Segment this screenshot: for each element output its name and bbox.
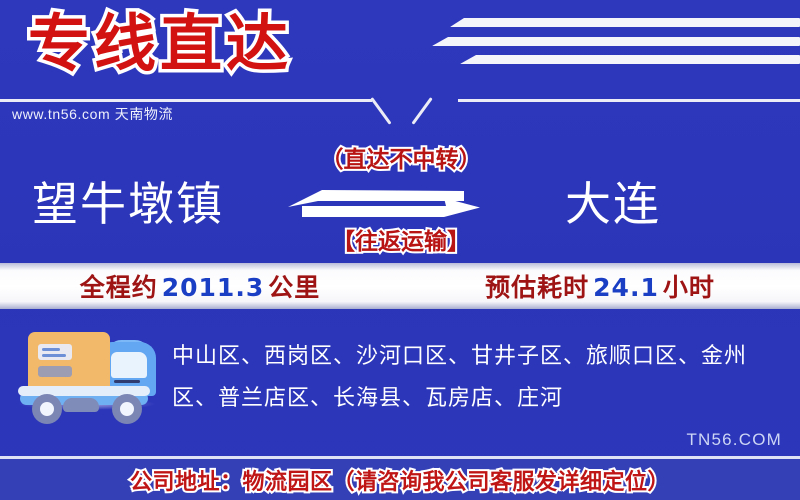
truck-wheel-front xyxy=(112,394,142,424)
speed-lines-decoration xyxy=(420,4,800,74)
distance-stat: 全程约2011.3公里 xyxy=(0,268,400,304)
coverage-area-list: 中山区、西岗区、沙河口区、甘井子区、旅顺口区、金州 区、普兰店区、长海县、瓦房店… xyxy=(172,336,782,420)
coverage-line-1: 中山区、西岗区、沙河口区、甘井子区、旅顺口区、金州 xyxy=(172,336,782,378)
coverage-line-2: 区、普兰店区、长海县、瓦房店、庄河 xyxy=(172,378,782,420)
speed-line-3 xyxy=(460,55,800,64)
duration-stat: 预估耗时24.1小时 xyxy=(400,268,800,304)
speed-line-2 xyxy=(432,37,800,46)
duration-value: 24.1 xyxy=(589,273,663,302)
truck-wheel-rear xyxy=(32,394,62,424)
distance-unit: 公里 xyxy=(268,273,320,302)
company-address-label: 公司地址：物流园区（请咨询我公司客服发详细定位） xyxy=(0,464,800,496)
stats-band: 全程约2011.3公里 预估耗时24.1小时 xyxy=(0,263,800,309)
distance-label: 全程约 xyxy=(80,273,158,302)
route-note-direct: （直达不中转） xyxy=(296,140,506,174)
duration-label: 预估耗时 xyxy=(485,273,589,302)
route-note-roundtrip: 【往返运输】 xyxy=(296,222,506,256)
divider-line-left xyxy=(0,99,372,102)
speed-line-1 xyxy=(450,18,800,27)
page-title: 专线直达 xyxy=(28,4,292,83)
arrow-left-icon xyxy=(288,190,464,207)
origin-city: 望牛墩镇 xyxy=(32,168,224,234)
footer-bar: 公司地址：物流园区（请咨询我公司客服发详细定位） xyxy=(0,456,800,500)
bidirectional-arrow-icon xyxy=(288,182,480,224)
duration-unit: 小时 xyxy=(663,273,715,302)
delivery-truck-icon xyxy=(8,318,166,414)
site-url-label: www.tn56.com 天南物流 xyxy=(12,104,173,124)
logistics-banner: 专线直达 www.tn56.com 天南物流 望牛墩镇 大连 （直达不中转） 【… xyxy=(0,0,800,500)
divider-line-right xyxy=(458,99,800,102)
watermark-label: TN56.COM xyxy=(686,430,782,450)
chevron-down-icon xyxy=(366,98,438,124)
destination-city: 大连 xyxy=(565,168,661,234)
distance-value: 2011.3 xyxy=(158,273,268,302)
